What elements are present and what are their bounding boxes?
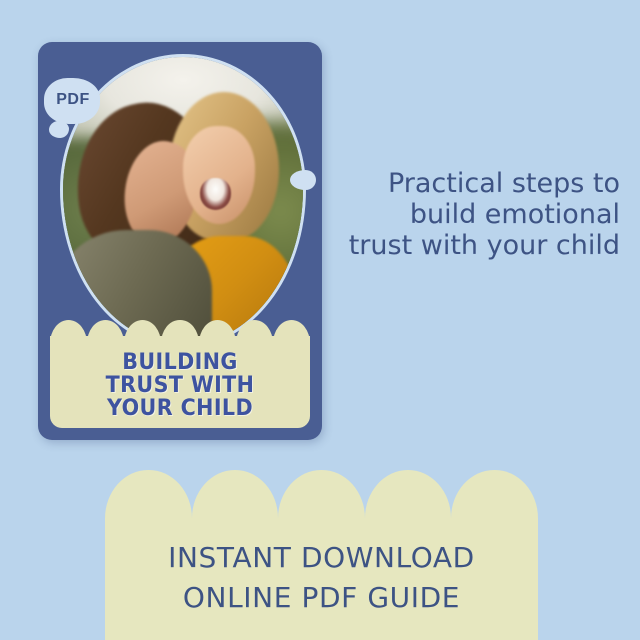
child-mouth <box>200 178 231 210</box>
pdf-badge-tail <box>49 121 69 138</box>
card-petal-accent-icon <box>290 170 316 190</box>
pdf-badge-label: PDF <box>56 91 90 109</box>
product-card[interactable]: PDF BUILDING TRUST WITH YOUR CHILD <box>38 42 322 440</box>
headline-text: Practical steps to build emotional trust… <box>338 168 620 261</box>
banner-text: INSTANT DOWNLOAD ONLINE PDF GUIDE <box>105 538 538 618</box>
bottom-banner: INSTANT DOWNLOAD ONLINE PDF GUIDE <box>105 470 538 640</box>
cover-title-panel: BUILDING TRUST WITH YOUR CHILD <box>50 318 310 428</box>
poster-canvas: PDF BUILDING TRUST WITH YOUR CHILD Pract… <box>0 0 640 640</box>
cover-title: BUILDING TRUST WITH YOUR CHILD <box>58 351 302 420</box>
pdf-badge-icon: PDF <box>44 78 100 124</box>
